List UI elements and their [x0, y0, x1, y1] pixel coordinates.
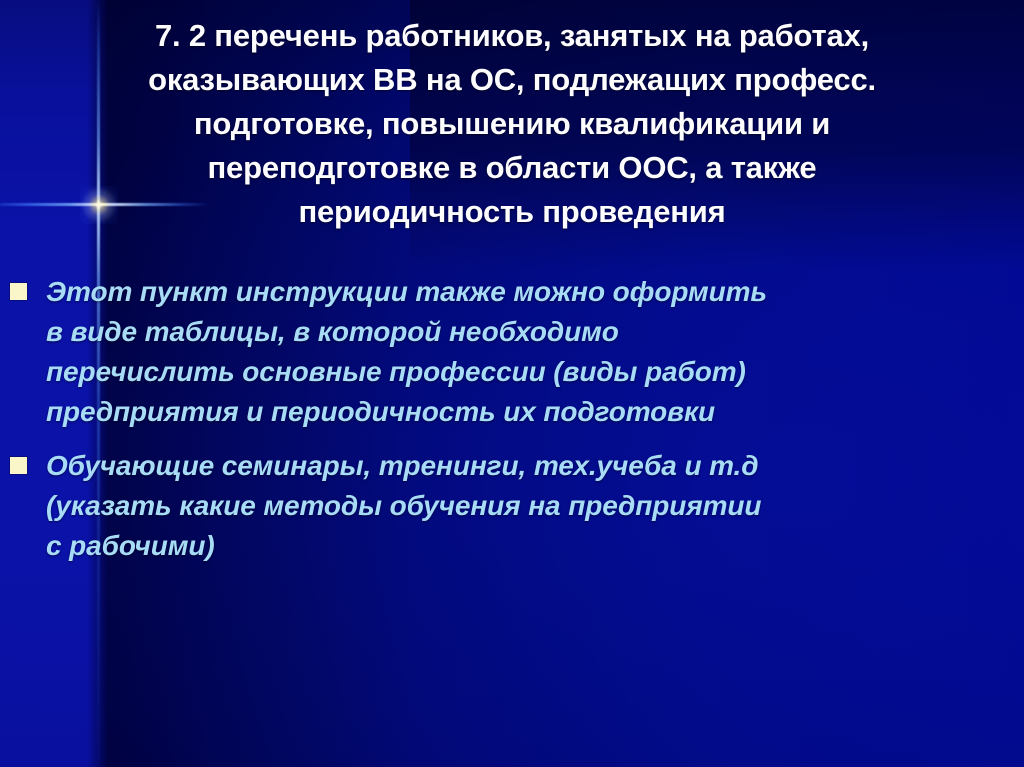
slide-title-line-1: 7. 2 перечень работников, занятых на раб…: [22, 14, 1002, 58]
bullet-item: Этот пункт инструкции также можно оформи…: [0, 272, 1024, 432]
bullet-1-line-3: перечислить основные профессии (виды раб…: [46, 352, 1014, 392]
slide-title-line-3: подготовке, повышению квалификации и: [22, 102, 1002, 146]
bullet-2-line-3: с рабочими): [46, 526, 1014, 566]
slide-title-line-2: оказывающих ВВ на ОС, подлежащих професс…: [22, 58, 1002, 102]
bullet-1-line-4: предприятия и периодичность их подготовк…: [46, 392, 1014, 432]
bullet-2-line-1: Обучающие семинары, тренинги, тех.учеба …: [46, 446, 1014, 486]
bullet-square-icon: [10, 457, 27, 474]
slide-title-line-5: периодичность проведения: [22, 190, 1002, 234]
bullet-2-line-2: (указать какие методы обучения на предпр…: [46, 486, 1014, 526]
slide-title: 7. 2 перечень работников, занятых на раб…: [22, 14, 1002, 234]
bullet-item-text: Этот пункт инструкции также можно оформи…: [46, 272, 1014, 432]
slide-title-line-4: переподготовке в области ООС, а также: [22, 146, 1002, 190]
bullet-square-icon: [10, 283, 27, 300]
bullet-1-line-2: в виде таблицы, в которой необходимо: [46, 312, 1014, 352]
bullet-1-line-1: Этот пункт инструкции также можно оформи…: [46, 272, 1014, 312]
presentation-slide: 7. 2 перечень работников, занятых на раб…: [0, 0, 1024, 767]
bullet-item: Обучающие семинары, тренинги, тех.учеба …: [0, 446, 1024, 566]
slide-body: Этот пункт инструкции также можно оформи…: [0, 272, 1024, 570]
bullet-item-text: Обучающие семинары, тренинги, тех.учеба …: [46, 446, 1014, 566]
